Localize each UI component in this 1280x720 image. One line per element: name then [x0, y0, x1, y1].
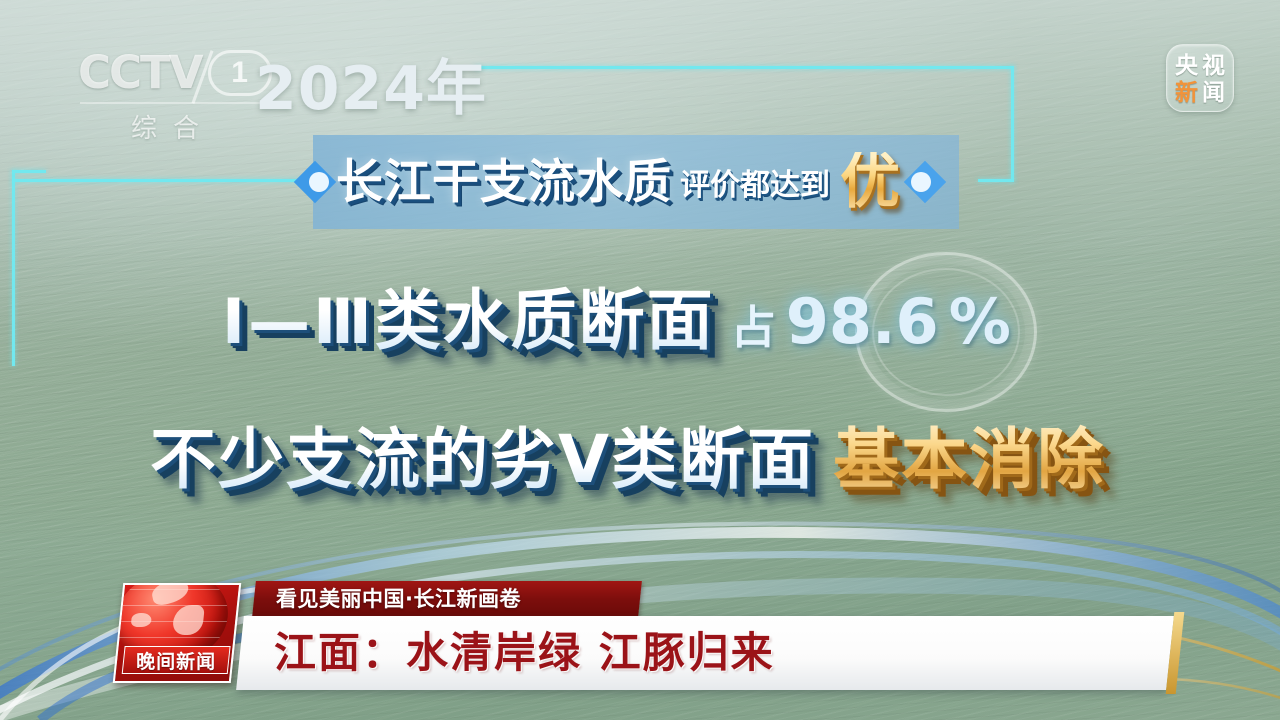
diamond-marker-left-icon: [300, 167, 330, 197]
stat-unit-1: %: [949, 285, 1011, 358]
diamond-marker-right-icon: [910, 167, 940, 197]
stat-label-1: 类水质断面: [375, 284, 715, 358]
stat-highlight-2: 基本消除: [833, 406, 1105, 502]
news-logo-char-1: 央: [1173, 52, 1200, 79]
channel-bug-rule: [80, 102, 266, 104]
stat-value-1: 98.6: [786, 285, 939, 358]
band-secondary-text: 评价都达到: [680, 160, 830, 204]
stat-line-1: Ⅰ—Ⅲ 类水质断面 占 98.6 %: [222, 284, 1011, 358]
stat-label-2: 不少支流的劣Ⅴ类断面: [150, 423, 815, 497]
headline-band: 长江干支流水质 评价都达到 优: [300, 150, 1000, 214]
channel-number: 1: [231, 56, 248, 90]
bracket-left-top: [12, 170, 46, 173]
band-highlight-text: 优: [840, 152, 900, 212]
bracket-right-line: [1011, 66, 1014, 182]
program-name: 晚间新闻: [136, 647, 216, 674]
program-name-badge: 晚间新闻: [122, 646, 231, 674]
topic-text: 看见美丽中国·长江新画卷: [254, 581, 640, 617]
news-logo-char-3: 新: [1173, 79, 1200, 106]
bracket-left-tail: [12, 179, 312, 182]
bracket-top-line: [474, 66, 1014, 69]
topic-bar: 看见美丽中国·长江新画卷: [252, 581, 642, 617]
news-logo-char-2: 视: [1200, 52, 1227, 79]
broadcast-frame: CCTV 1 综合 央 视 新 闻 2024年 长江干支流水质 评价都达到 优 …: [0, 0, 1280, 720]
news-logo-char-4: 闻: [1200, 79, 1227, 106]
program-logo: 晚间新闻: [113, 583, 242, 683]
stat-line-2: 不少支流的劣Ⅴ类断面 基本消除: [150, 406, 1105, 502]
cctv-wordmark: CCTV: [78, 46, 202, 99]
cctv-news-logo: 央 视 新 闻: [1166, 44, 1234, 112]
headline-bar: 江面：水清岸绿 江豚归来: [236, 616, 1174, 690]
headline-text: 江面：水清岸绿 江豚归来: [240, 616, 1170, 690]
lower-third: 晚间新闻 看见美丽中国·长江新画卷 江面：水清岸绿 江豚归来: [0, 505, 1280, 720]
band-primary-text: 长江干支流水质: [336, 159, 672, 206]
bracket-left-line: [12, 170, 15, 366]
stat-roman-range: Ⅰ—Ⅲ: [222, 285, 375, 358]
stat-prefix-1: 占: [731, 291, 776, 356]
channel-name: 综合: [78, 108, 268, 145]
year-label: 2024年: [255, 40, 487, 127]
